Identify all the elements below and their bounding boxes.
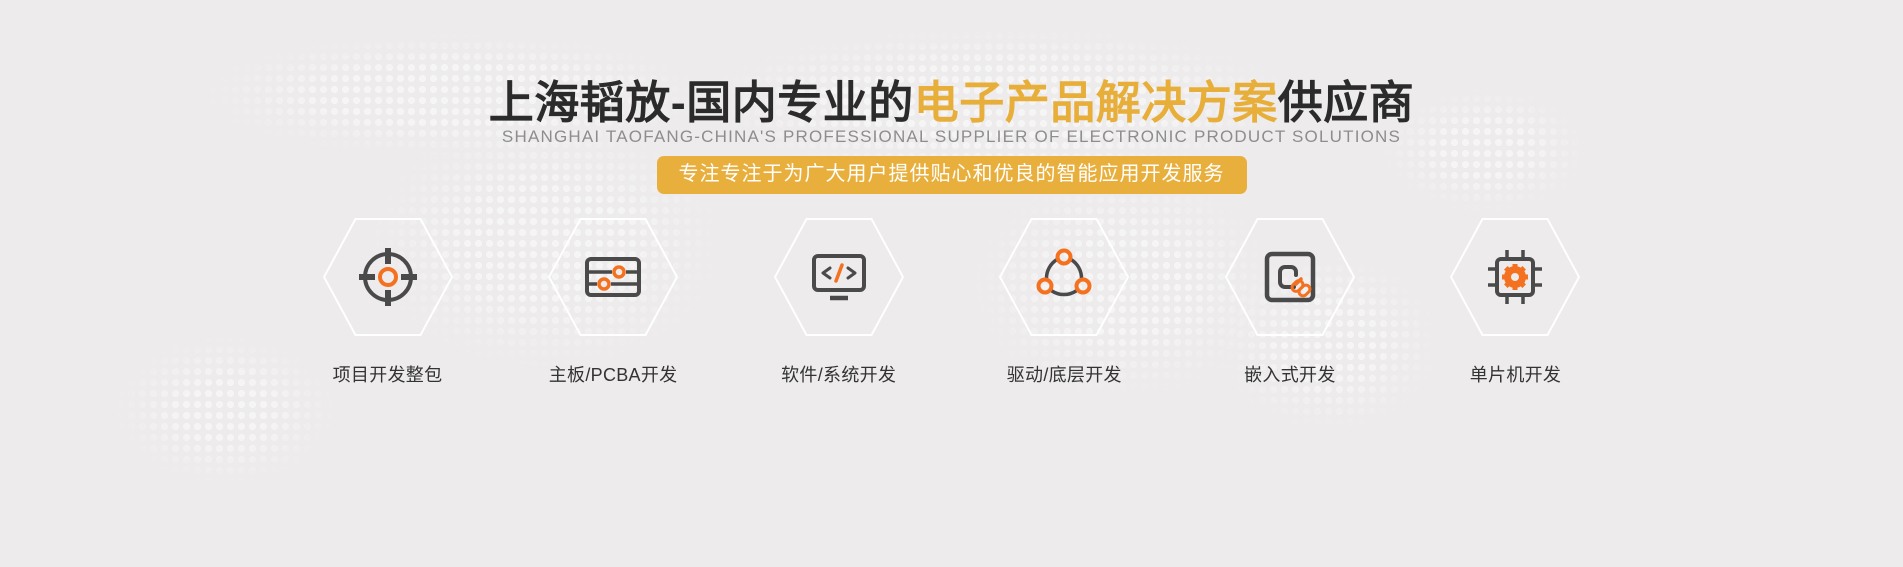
service-label: 项目开发整包	[333, 364, 443, 386]
service-label: 嵌入式开发	[1244, 364, 1336, 386]
hexagon-frame	[548, 218, 678, 336]
service-label: 主板/PCBA开发	[549, 364, 678, 386]
headline-lead: 上海韬放-国内专业的	[489, 77, 914, 128]
banner-subtitle-english: SHANGHAI TAOFANG-CHINA'S PROFESSIONAL SU…	[0, 126, 1903, 148]
service-hexagon-row: 项目开发整包	[300, 218, 1603, 388]
service-item-project-package[interactable]: 项目开发整包	[300, 218, 475, 386]
banner-tagline-badge: 专注专注于为广大用户提供贴心和优良的智能应用开发服务	[657, 156, 1247, 194]
service-label: 软件/系统开发	[781, 364, 896, 386]
hero-banner: 上海韬放-国内专业的电子产品解决方案供应商 SHANGHAI TAOFANG-C…	[0, 0, 1903, 567]
service-item-embedded[interactable]: 嵌入式开发	[1202, 218, 1377, 386]
service-item-mainboard-pcba[interactable]: 主板/PCBA开发	[526, 218, 701, 386]
headline-highlight: 电子产品解决方案	[914, 77, 1278, 128]
service-item-driver-lowlevel[interactable]: 驱动/底层开发	[977, 218, 1152, 386]
service-item-software-system[interactable]: 软件/系统开发	[751, 218, 926, 386]
hexagon-frame	[1225, 218, 1355, 336]
node-network-icon	[1032, 245, 1096, 309]
service-item-mcu[interactable]: 单片机开发	[1428, 218, 1603, 386]
embedded-link-icon	[1258, 245, 1322, 309]
headline-tail: 供应商	[1278, 77, 1415, 128]
service-label: 单片机开发	[1470, 364, 1562, 386]
hexagon-frame	[999, 218, 1129, 336]
pcb-board-icon	[581, 245, 645, 309]
hexagon-frame	[774, 218, 904, 336]
banner-badge-wrapper: 专注专注于为广大用户提供贴心和优良的智能应用开发服务	[0, 156, 1903, 194]
banner-headline: 上海韬放-国内专业的电子产品解决方案供应商	[0, 78, 1903, 128]
hexagon-frame	[323, 218, 453, 336]
service-label: 驱动/底层开发	[1007, 364, 1122, 386]
crosshair-target-icon	[356, 245, 420, 309]
chip-gear-icon	[1483, 245, 1547, 309]
monitor-code-icon	[807, 245, 871, 309]
hexagon-frame	[1450, 218, 1580, 336]
